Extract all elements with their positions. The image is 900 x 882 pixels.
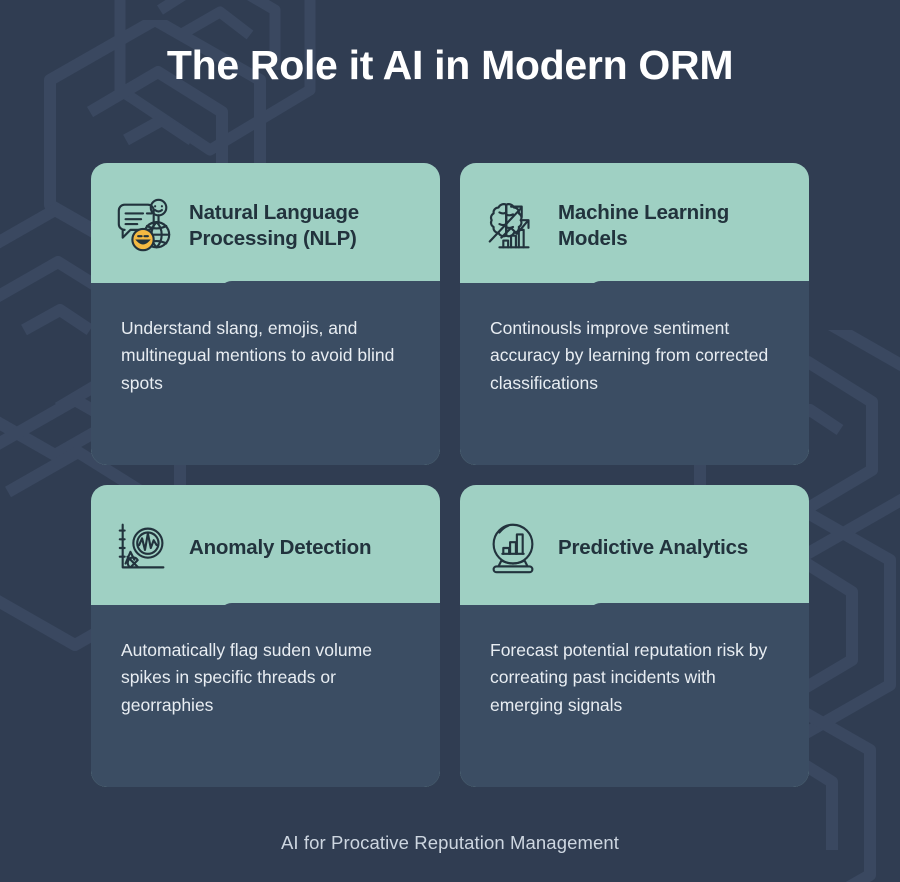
card-description: Forecast potential reputation risk by co… bbox=[490, 637, 787, 719]
card-natural-language-processing[interactable]: Natural Language Processing (NLP) Unders… bbox=[91, 163, 440, 465]
footer-caption: AI for Procative Reputation Management bbox=[0, 832, 900, 854]
card-body: Understand slang, emojis, and multinegua… bbox=[91, 283, 440, 465]
card-title: Predictive Analytics bbox=[558, 535, 748, 561]
card-header: Predictive Analytics bbox=[460, 485, 809, 611]
brain-growth-chart-icon bbox=[482, 195, 544, 257]
card-body: Forecast potential reputation risk by co… bbox=[460, 605, 809, 787]
card-title: Natural Language Processing (NLP) bbox=[189, 200, 422, 252]
card-machine-learning-models[interactable]: Machine Learning Models Continousls impr… bbox=[460, 163, 809, 465]
card-body: Automatically flag suden volume spikes i… bbox=[91, 605, 440, 787]
magnifier-spike-chart-icon bbox=[113, 517, 175, 579]
card-predictive-analytics[interactable]: Predictive Analytics Forecast potential … bbox=[460, 485, 809, 787]
card-title: Machine Learning Models bbox=[558, 200, 791, 252]
card-header: Machine Learning Models bbox=[460, 163, 809, 289]
crystal-ball-bars-icon bbox=[482, 517, 544, 579]
card-description: Understand slang, emojis, and multinegua… bbox=[121, 315, 418, 397]
card-anomaly-detection[interactable]: Anomaly Detection Automatically flag sud… bbox=[91, 485, 440, 787]
card-description: Continousls improve sentiment accuracy b… bbox=[490, 315, 787, 397]
card-header: Natural Language Processing (NLP) bbox=[91, 163, 440, 289]
feature-card-grid: Natural Language Processing (NLP) Unders… bbox=[91, 163, 809, 787]
card-body: Continousls improve sentiment accuracy b… bbox=[460, 283, 809, 465]
card-header: Anomaly Detection bbox=[91, 485, 440, 611]
card-title: Anomaly Detection bbox=[189, 535, 371, 561]
speech-bubble-globe-emoji-icon bbox=[113, 195, 175, 257]
page-title: The Role it AI in Modern ORM bbox=[0, 42, 900, 89]
card-description: Automatically flag suden volume spikes i… bbox=[121, 637, 418, 719]
infographic-poster: The Role it AI in Modern ORM bbox=[0, 0, 900, 882]
